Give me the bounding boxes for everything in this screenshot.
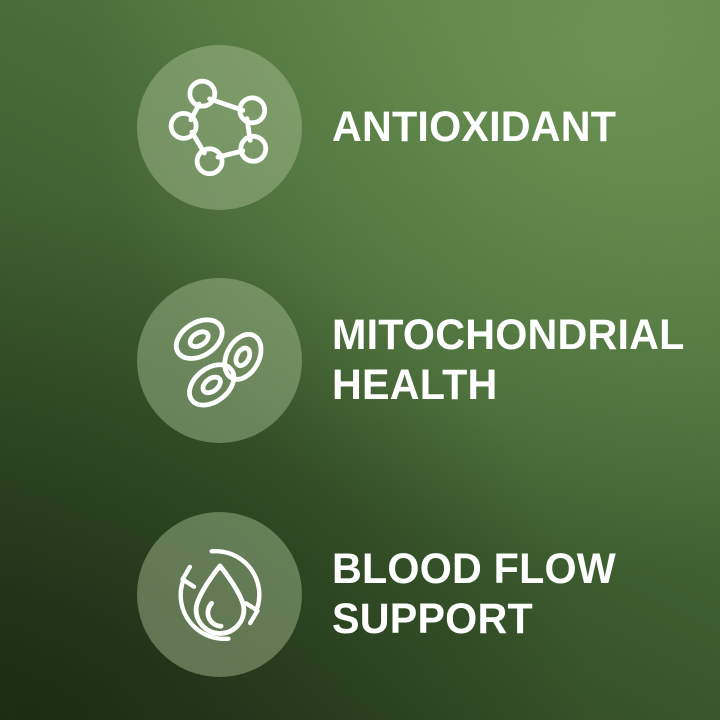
benefit-label-mitochondrial-health: MITOCHONDRIAL HEALTH xyxy=(332,311,685,411)
infographic-canvas: ANTIOXIDANT MIT xyxy=(0,0,720,720)
benefit-row-blood-flow-support: BLOOD FLOW SUPPORT xyxy=(0,512,720,677)
benefit-row-mitochondrial-health: MITOCHONDRIAL HEALTH xyxy=(0,278,720,443)
blood-drop-circulation-icon xyxy=(168,543,272,647)
molecule-pentagon-icon xyxy=(168,76,272,180)
benefit-icon-badge xyxy=(137,512,302,677)
benefit-icon-badge xyxy=(137,45,302,210)
benefit-label-antioxidant: ANTIOXIDANT xyxy=(332,103,616,153)
benefit-label-blood-flow-support: BLOOD FLOW SUPPORT xyxy=(332,545,616,645)
mitochondria-cells-icon xyxy=(168,309,272,413)
benefit-icon-badge xyxy=(137,278,302,443)
benefit-row-antioxidant: ANTIOXIDANT xyxy=(0,45,720,210)
